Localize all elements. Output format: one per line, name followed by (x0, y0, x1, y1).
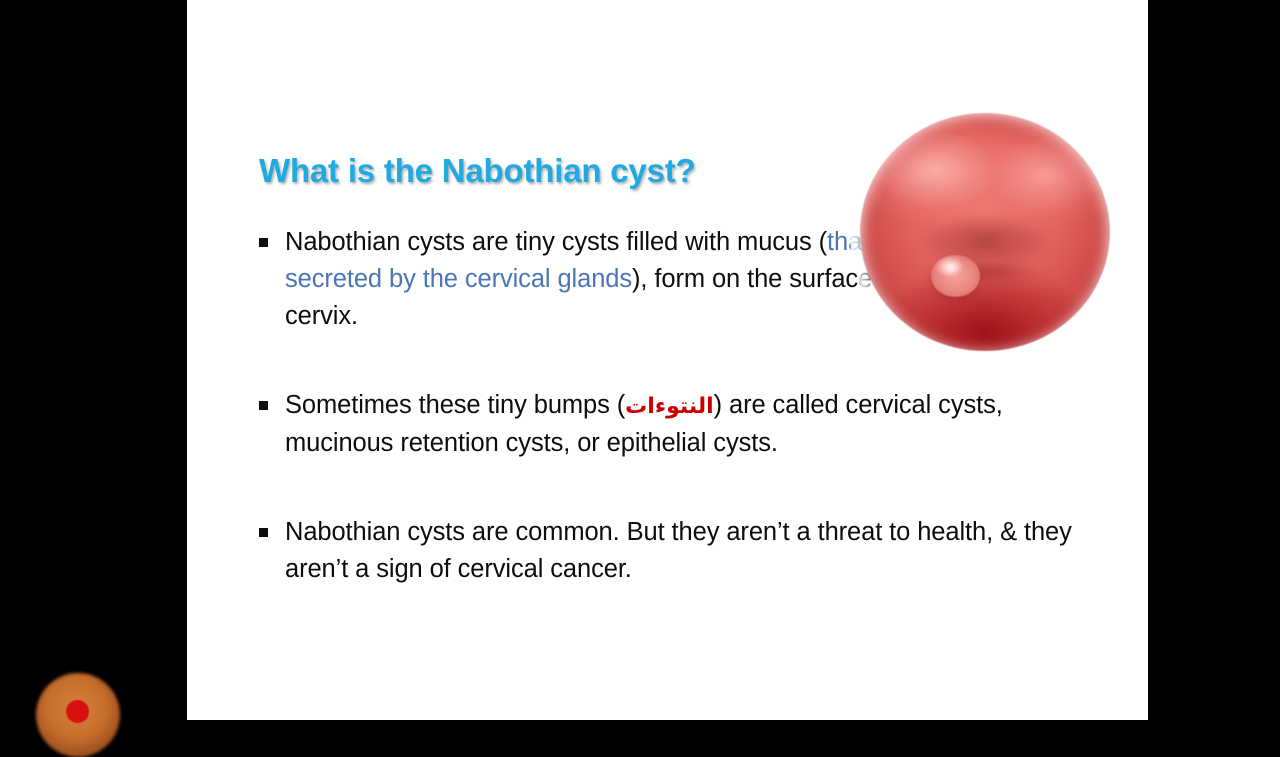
page-title: What is the Nabothian cyst? (259, 152, 695, 190)
letterbox-bar-right (1148, 0, 1280, 720)
bullet-2-segment-1: Sometimes these tiny bumps ( (285, 391, 625, 419)
cervix-photograph (860, 113, 1110, 355)
list-item: Nabothian cysts are common. But they are… (257, 514, 1075, 588)
square-bullet-icon (259, 238, 268, 247)
video-frame: What is the Nabothian cyst? Nabothian cy… (0, 0, 1280, 720)
square-bullet-icon (259, 528, 268, 537)
list-item: Sometimes these tiny bumps (النتوءات) ar… (257, 387, 1075, 462)
list-item-text: Sometimes these tiny bumps (النتوءات) ar… (285, 387, 1075, 462)
bullet-2-arabic-term: النتوءات (625, 394, 713, 419)
presentation-slide: What is the Nabothian cyst? Nabothian cy… (187, 0, 1148, 720)
cyst-highlight (942, 261, 961, 275)
list-item-text: Nabothian cysts are common. But they are… (285, 514, 1075, 588)
bullet-1-segment-1: Nabothian cysts are tiny cysts filled wi… (285, 228, 827, 256)
channel-watermark (36, 673, 120, 757)
letterbox-bar-left (0, 0, 187, 720)
square-bullet-icon (259, 401, 268, 410)
